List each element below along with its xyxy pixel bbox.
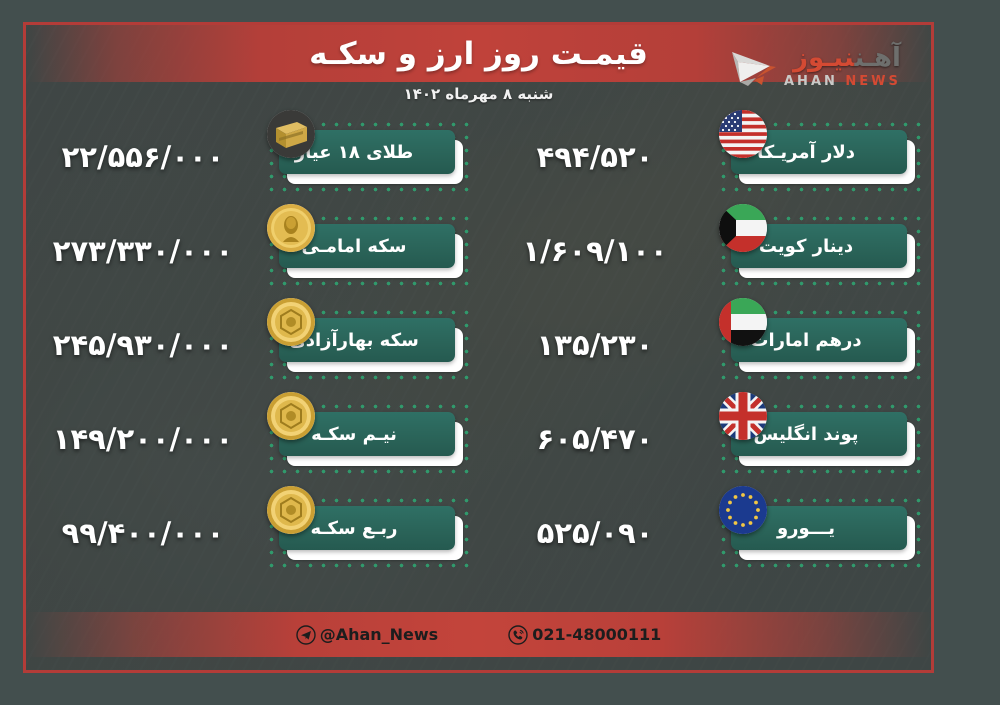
table-row[interactable]: سکه امامـی — [27, 205, 479, 299]
flag-kuwait-icon — [719, 204, 767, 252]
coin-quarter-icon — [267, 486, 315, 534]
currency-badge-eur[interactable]: یـــورو — [717, 490, 931, 578]
currency-badge-usd[interactable]: دلار آمریـکا — [717, 114, 931, 202]
logo-text: آهـننیـوز AHAN NEWS — [784, 45, 901, 88]
table-row[interactable]: دینار کویت ۱/۶۰۹/۱۰۰ — [479, 205, 931, 299]
logo-english: AHAN NEWS — [784, 75, 901, 88]
flag-uk-icon — [719, 392, 767, 440]
price-columns: دلار آمریـکا — [26, 111, 931, 581]
gold-price: ۹۹/۴۰۰/۰۰۰ — [27, 516, 259, 552]
gold-badge-quarter[interactable]: ربـع سکـه — [265, 490, 479, 578]
logo-english-news: NEWS — [845, 74, 900, 89]
currency-price: ۱/۶۰۹/۱۰۰ — [479, 234, 711, 270]
currency-price: ۴۹۴/۵۲۰ — [479, 140, 711, 176]
flag-usa-icon — [719, 110, 767, 158]
table-row[interactable]: نیـم سکـه ۱۴۹/۲۰۰/۰۰۰ — [27, 393, 479, 487]
footer-contacts: @Ahan_News 021-48000111 — [26, 612, 931, 657]
gold-price: ۱۴۹/۲۰۰/۰۰۰ — [27, 422, 259, 458]
table-row[interactable]: درهم امارات ۱۳۵/۲۳۰ — [479, 299, 931, 393]
currency-name: دینار کویت — [759, 236, 853, 257]
phone-icon — [508, 625, 528, 645]
table-row[interactable]: ربـع سکـه ۹۹/۴۰۰/۰۰۰ — [27, 487, 479, 581]
table-row[interactable]: دلار آمریـکا — [479, 111, 931, 205]
gold-badge-half[interactable]: نیـم سکـه — [265, 396, 479, 484]
gold-name: نیـم سکـه — [311, 424, 397, 445]
brand-logo[interactable]: آهـننیـوز AHAN NEWS — [726, 32, 921, 100]
table-row[interactable]: یـــورو — [479, 487, 931, 581]
currency-badge-gbp[interactable]: پوند انگلیس — [717, 396, 931, 484]
gold-column: طلای ۱۸ عیار ۲۲/۵۵۶/۰۰۰ — [27, 111, 479, 581]
gold-name: سکه امامـی — [302, 236, 407, 257]
infographic-canvas: قیمـت روز ارز و سکـه شنبه ۸ مهرماه ۱۴۰۲ … — [0, 0, 1000, 705]
coin-bahar-icon — [267, 298, 315, 346]
origami-arrow-icon — [726, 40, 780, 92]
currency-name: درهم امارات — [750, 330, 861, 351]
currency-column: دلار آمریـکا — [479, 111, 931, 581]
currency-name: پوند انگلیس — [754, 424, 859, 445]
currency-name: دلار آمریـکا — [757, 142, 855, 163]
logo-persian-dim: آهـن — [854, 43, 900, 73]
table-row[interactable]: پوند انگلیس ۶۰۵/۴۷۰ — [479, 393, 931, 487]
coin-emami-icon — [267, 204, 315, 252]
currency-badge-kwd[interactable]: دینار کویت — [717, 208, 931, 296]
telegram-icon — [296, 625, 316, 645]
flag-eu-icon — [719, 486, 767, 534]
gold-bar-icon — [267, 110, 315, 158]
logo-persian: آهـننیـوز — [784, 45, 901, 71]
gold-name: طلای ۱۸ عیار — [295, 142, 413, 163]
coin-half-icon — [267, 392, 315, 440]
telegram-text: @Ahan_News — [320, 625, 439, 644]
phone-number[interactable]: 021-48000111 — [508, 625, 661, 645]
currency-name: یـــورو — [777, 518, 835, 539]
currency-price: ۱۳۵/۲۳۰ — [479, 328, 711, 364]
gold-badge-18k[interactable]: طلای ۱۸ عیار — [265, 114, 479, 202]
gold-name: ربـع سکـه — [310, 518, 397, 539]
telegram-handle[interactable]: @Ahan_News — [296, 625, 439, 645]
content-card: قیمـت روز ارز و سکـه شنبه ۸ مهرماه ۱۴۰۲ … — [26, 25, 931, 670]
currency-badge-aed[interactable]: درهم امارات — [717, 302, 931, 390]
gold-badge-bahar[interactable]: سکه بهارآزادی — [265, 302, 479, 390]
currency-price: ۶۰۵/۴۷۰ — [479, 422, 711, 458]
phone-text: 021-48000111 — [532, 625, 661, 644]
gold-price: ۲۴۵/۹۳۰/۰۰۰ — [27, 328, 259, 364]
gold-price: ۲۷۳/۳۳۰/۰۰۰ — [27, 234, 259, 270]
gold-price: ۲۲/۵۵۶/۰۰۰ — [27, 140, 259, 176]
flag-uae-icon — [719, 298, 767, 346]
logo-english-ahan: AHAN — [784, 74, 838, 89]
table-row[interactable]: سکه بهارآزادی ۲۴۵/۹۳۰/۰۰۰ — [27, 299, 479, 393]
header: قیمـت روز ارز و سکـه شنبه ۸ مهرماه ۱۴۰۲ … — [26, 25, 931, 109]
footer: @Ahan_News 021-48000111 — [26, 604, 931, 670]
logo-persian-orange: نیـوز — [793, 43, 854, 73]
currency-price: ۵۲۵/۰۹۰ — [479, 516, 711, 552]
gold-badge-emami[interactable]: سکه امامـی — [265, 208, 479, 296]
table-row[interactable]: طلای ۱۸ عیار ۲۲/۵۵۶/۰۰۰ — [27, 111, 479, 205]
